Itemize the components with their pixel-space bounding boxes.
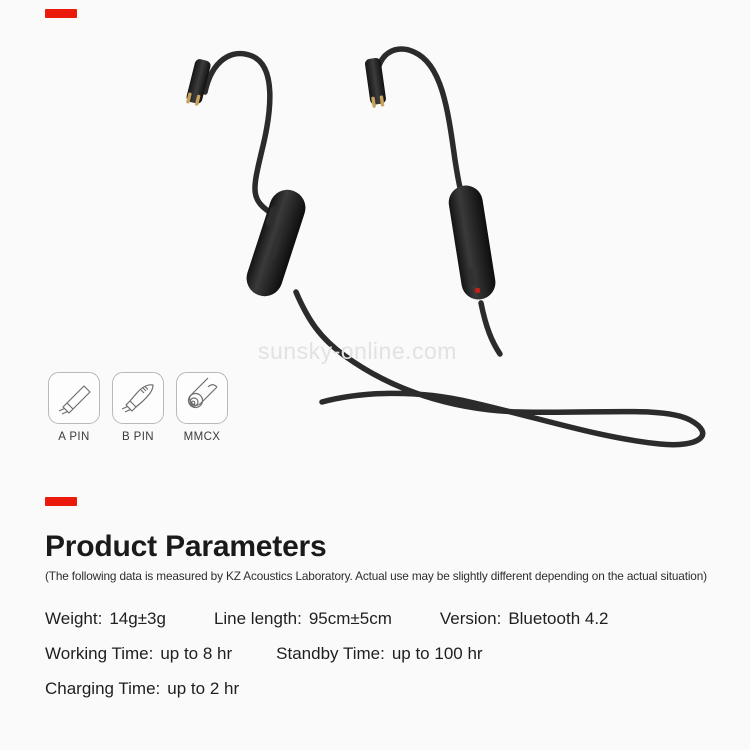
product-parameters-section: Product Parameters (The following data i… bbox=[45, 530, 735, 714]
control-module-left bbox=[242, 185, 310, 301]
spec-label: Charging Time: bbox=[45, 679, 160, 699]
mmcx-connector-icon bbox=[181, 377, 223, 419]
b-pin-connector-icon bbox=[117, 377, 159, 419]
right-connector-plug bbox=[364, 57, 387, 108]
spec-line-length: Line length: 95cm±5cm bbox=[214, 609, 392, 629]
spec-row: Charging Time: up to 2 hr bbox=[45, 679, 735, 699]
spec-label: Line length: bbox=[214, 609, 302, 629]
spec-row: Weight: 14g±3g Line length: 95cm±5cm Ver… bbox=[45, 609, 735, 629]
connector-option-a-pin[interactable]: A PIN bbox=[48, 372, 100, 443]
a-pin-connector-icon bbox=[53, 377, 95, 419]
mmcx-label: MMCX bbox=[184, 431, 221, 443]
spec-working-time: Working Time: up to 8 hr bbox=[45, 644, 232, 664]
spec-value: up to 2 hr bbox=[167, 679, 239, 699]
accent-bar-section bbox=[45, 497, 77, 506]
spec-standby-time: Standby Time: up to 100 hr bbox=[276, 644, 482, 664]
spec-version: Version: Bluetooth 4.2 bbox=[440, 609, 609, 629]
site-watermark: sunsky-online.com bbox=[258, 338, 457, 365]
specification-list: Weight: 14g±3g Line length: 95cm±5cm Ver… bbox=[45, 609, 735, 699]
accent-bar-top bbox=[45, 9, 77, 18]
section-note: (The following data is measured by KZ Ac… bbox=[45, 569, 735, 583]
spec-label: Standby Time: bbox=[276, 644, 385, 664]
spec-value: up to 100 hr bbox=[392, 644, 483, 664]
b-pin-icon-box bbox=[112, 372, 164, 424]
a-pin-label: A PIN bbox=[58, 431, 89, 443]
spec-charging-time: Charging Time: up to 2 hr bbox=[45, 679, 239, 699]
spec-label: Working Time: bbox=[45, 644, 153, 664]
spec-value: Bluetooth 4.2 bbox=[508, 609, 608, 629]
connector-type-row: A PIN B PIN bbox=[48, 372, 228, 443]
control-module-right bbox=[446, 183, 498, 302]
connector-option-b-pin[interactable]: B PIN bbox=[112, 372, 164, 443]
spec-row: Working Time: up to 8 hr Standby Time: u… bbox=[45, 644, 735, 664]
section-title: Product Parameters bbox=[45, 530, 735, 563]
mmcx-icon-box bbox=[176, 372, 228, 424]
spec-value: 95cm±5cm bbox=[309, 609, 392, 629]
b-pin-label: B PIN bbox=[122, 431, 154, 443]
led-indicator bbox=[475, 288, 480, 293]
spec-value: up to 8 hr bbox=[160, 644, 232, 664]
spec-label: Version: bbox=[440, 609, 501, 629]
a-pin-icon-box bbox=[48, 372, 100, 424]
product-detail-page: sunsky-online.com A PIN bbox=[0, 0, 750, 750]
spec-weight: Weight: 14g±3g bbox=[45, 609, 166, 629]
spec-label: Weight: bbox=[45, 609, 102, 629]
connector-option-mmcx[interactable]: MMCX bbox=[176, 372, 228, 443]
spec-value: 14g±3g bbox=[109, 609, 166, 629]
